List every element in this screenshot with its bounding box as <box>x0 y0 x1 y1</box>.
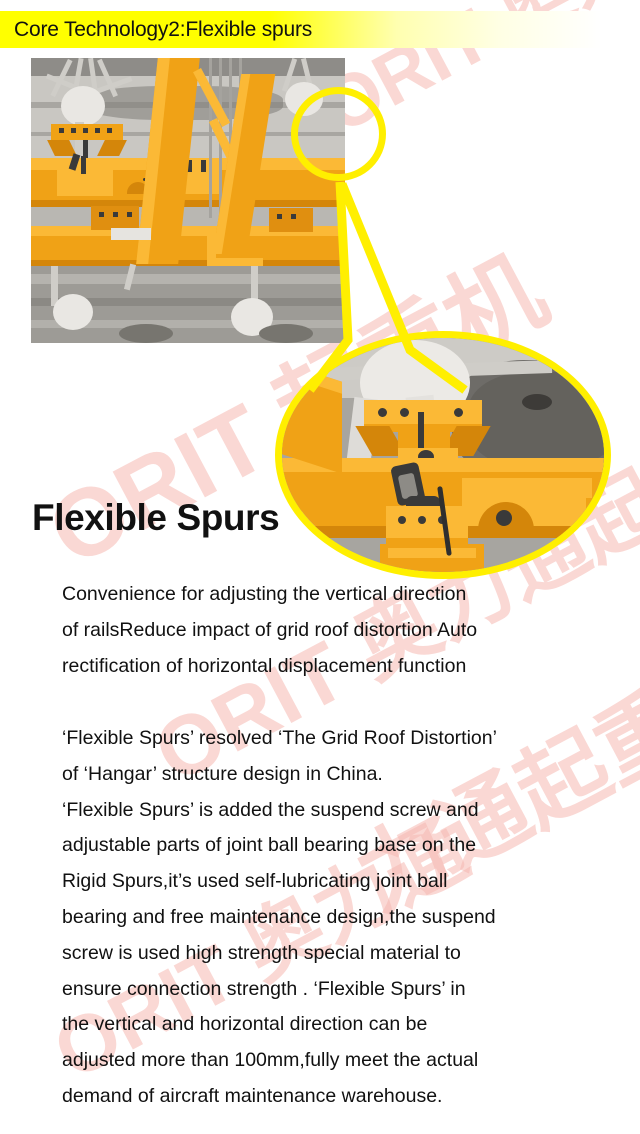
body-line: screw is used high strength special mate… <box>62 936 618 972</box>
body-paragraph-1: Convenience for adjusting the vertical d… <box>62 577 618 684</box>
body-line: bearing and free maintenance design,the … <box>62 900 618 936</box>
photo-scene-wide <box>31 58 345 343</box>
body-line: ensure connection strength . ‘Flexible S… <box>62 972 618 1008</box>
flexible-spur-detail-photo <box>275 331 611 579</box>
crane-overview-photo <box>31 58 345 343</box>
body-paragraph-2: ‘Flexible Spurs’ resolved ‘The Grid Roof… <box>62 721 618 1115</box>
page-title: Flexible Spurs <box>32 497 279 539</box>
body-line: rectification of horizontal displacement… <box>62 649 618 685</box>
body-line: Rigid Spurs,it’s used self-lubricating j… <box>62 864 618 900</box>
photo-scene-detail <box>282 338 604 572</box>
body-line: the vertical and horizontal direction ca… <box>62 1007 618 1043</box>
body-line: demand of aircraft maintenance warehouse… <box>62 1079 618 1115</box>
body-line: ‘Flexible Spurs’ is added the suspend sc… <box>62 793 618 829</box>
body-line: of ‘Hangar’ structure design in China. <box>62 757 618 793</box>
highlight-circle-icon <box>291 87 386 181</box>
body-line: Convenience for adjusting the vertical d… <box>62 577 618 613</box>
body-line: adjusted more than 100mm,fully meet the … <box>62 1043 618 1079</box>
body-line: of railsReduce impact of grid roof disto… <box>62 613 618 649</box>
body-line: ‘Flexible Spurs’ resolved ‘The Grid Roof… <box>62 721 618 757</box>
page-header-title: Core Technology2:Flexible spurs <box>14 14 312 45</box>
body-line: adjustable parts of joint ball bearing b… <box>62 828 618 864</box>
